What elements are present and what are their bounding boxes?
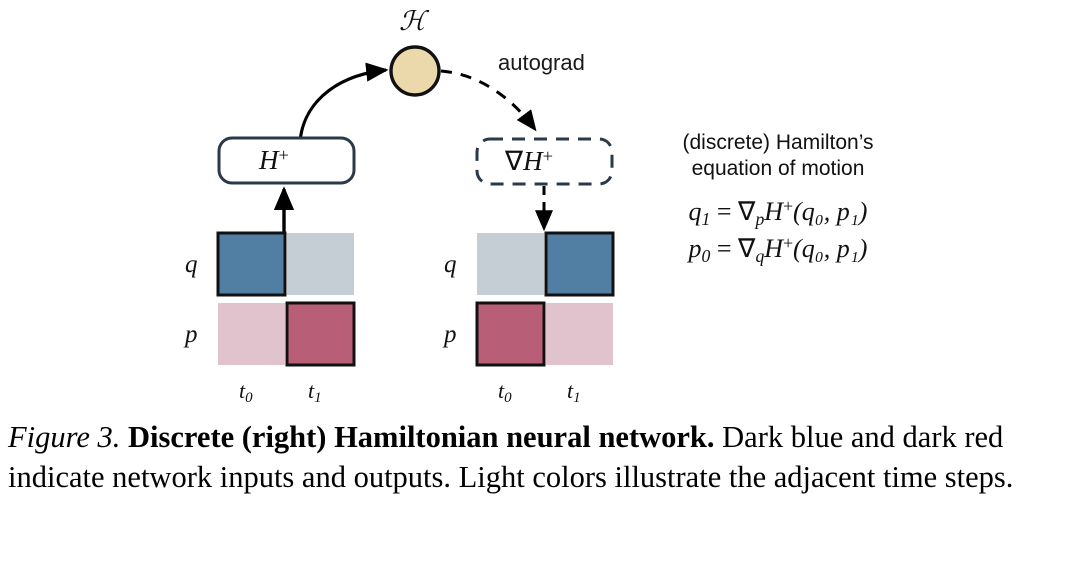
t-sub: 1	[573, 390, 580, 406]
eq-lhs-base: q	[689, 197, 702, 226]
arrow-autograd-node-to-grad	[441, 71, 534, 128]
figure-number: Figure 3.	[8, 420, 120, 454]
eq-lhs-base: p	[689, 234, 702, 263]
hamiltonian-node-label: ℋ	[399, 6, 426, 37]
network-box-label-base: H	[259, 145, 279, 175]
figure-3-container: ℋ autograd H+ ∇H+ q p t0 t1 q p t0 t1 (d…	[0, 0, 1080, 573]
network-box-label: H+	[259, 145, 289, 176]
right-grid-col-label-t0: t0	[498, 378, 512, 407]
t-sub: 1	[314, 390, 321, 406]
left-grid-row-label-q: q	[185, 251, 198, 279]
eq-nabla-sub: p	[755, 209, 764, 229]
right-grid-cells	[477, 233, 613, 365]
right-grid-row-label-p: p	[444, 321, 457, 349]
right-cell-q-t1	[546, 233, 613, 295]
eq-rhs-base: H	[764, 234, 783, 263]
nabla-icon: ∇	[505, 146, 523, 176]
gradient-box-label-base: H	[523, 146, 543, 176]
equations-list: q1 = ∇pH+(q₀, p₁) p0 = ∇qH+(q₀, p₁)	[628, 195, 928, 268]
caption-bold-lead: Discrete (right) Hamiltonian neural netw…	[128, 420, 715, 454]
annotation-line-1: (discrete) Hamilton’s	[628, 130, 928, 156]
gradient-box-label-superscript: +	[543, 146, 553, 166]
right-grid-col-label-t1: t1	[567, 378, 581, 407]
eq-args: (q₀, p₁)	[793, 234, 867, 263]
network-box-label-superscript: +	[279, 145, 289, 165]
annotation-block: (discrete) Hamilton’s equation of motion…	[628, 130, 928, 268]
t-sub: 0	[504, 390, 511, 406]
left-grid-cells	[218, 233, 354, 365]
nabla-icon: ∇	[738, 234, 755, 263]
left-cell-q-t1	[287, 233, 354, 295]
nabla-icon: ∇	[738, 197, 755, 226]
arrow-hplus-to-node	[300, 70, 386, 143]
right-cell-p-t0	[477, 303, 544, 365]
left-cell-p-t1	[287, 303, 354, 365]
autograd-label: autograd	[498, 50, 585, 76]
eq-nabla-sub: q	[755, 246, 764, 266]
equation-q1: q1 = ∇pH+(q₀, p₁)	[628, 195, 928, 232]
left-grid-row-label-p: p	[185, 321, 198, 349]
right-cell-q-t0	[477, 233, 544, 295]
eq-rhs-sup: +	[783, 233, 793, 253]
hamiltonian-node-circle	[391, 47, 439, 95]
equation-p0: p0 = ∇qH+(q₀, p₁)	[628, 232, 928, 269]
right-cell-p-t1	[546, 303, 613, 365]
left-grid-col-label-t0: t0	[239, 378, 253, 407]
annotation-line-2: equation of motion	[628, 156, 928, 182]
left-cell-q-t0	[218, 233, 285, 295]
eq-rhs-base: H	[764, 197, 783, 226]
left-cell-p-t0	[218, 303, 285, 365]
figure-caption: Figure 3. Discrete (right) Hamiltonian n…	[8, 418, 1072, 497]
right-grid-row-label-q: q	[444, 251, 457, 279]
t-sub: 0	[245, 390, 252, 406]
eq-args: (q₀, p₁)	[793, 197, 867, 226]
eq-rhs-sup: +	[783, 196, 793, 216]
gradient-box-label: ∇H+	[505, 146, 553, 177]
left-grid-col-label-t1: t1	[308, 378, 322, 407]
